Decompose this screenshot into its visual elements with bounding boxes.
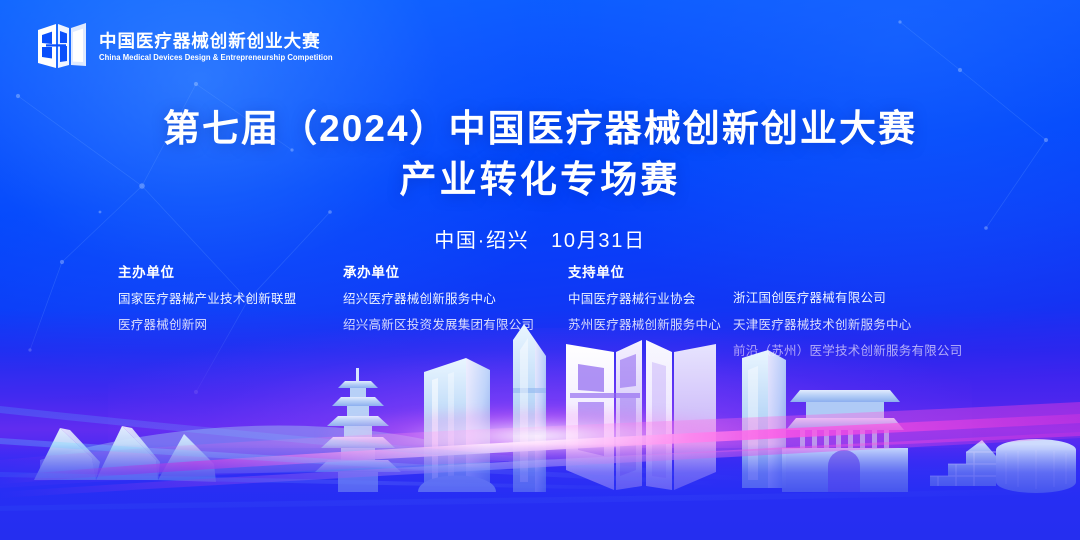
organizer-heading: 承办单位 <box>343 266 568 280</box>
page-title-line-1: 第七届（2024）中国医疗器械创新创业大赛 <box>0 105 1080 152</box>
organizer-item: 绍兴医疗器械创新服务中心 <box>343 293 568 306</box>
column-spacer <box>733 266 963 292</box>
poster-canvas: 中国医疗器械创新创业大赛 China Medical Devices Desig… <box>0 0 1080 540</box>
organizer-heading: 支持单位 <box>568 266 733 280</box>
foreground-ground-sheen <box>0 444 1080 540</box>
logo-title-cn: 中国医疗器械创新创业大赛 <box>99 32 342 50</box>
organizer-item: 国家医疗器械产业技术创新联盟 <box>118 293 343 306</box>
organizer-item: 中国医疗器械行业协会 <box>568 293 733 306</box>
hero-title-block: 第七届（2024）中国医疗器械创新创业大赛 产业转化专场赛 中国·绍兴 10月3… <box>0 105 1080 253</box>
city-skyline-scene <box>0 310 1080 540</box>
page-title-line-2: 产业转化专场赛 <box>0 156 1080 203</box>
event-location-date: 中国·绍兴 10月31日 <box>0 224 1080 253</box>
open-book-doors-emblem-icon <box>36 22 88 72</box>
organizer-item: 浙江国创医疗器械有限公司 <box>733 292 963 305</box>
logo-text-block: 中国医疗器械创新创业大赛 China Medical Devices Desig… <box>99 32 342 61</box>
logo-title-en: China Medical Devices Design & Entrepren… <box>99 53 333 62</box>
competition-logo[interactable]: 中国医疗器械创新创业大赛 China Medical Devices Desig… <box>36 22 342 72</box>
organizer-heading: 主办单位 <box>118 266 343 280</box>
